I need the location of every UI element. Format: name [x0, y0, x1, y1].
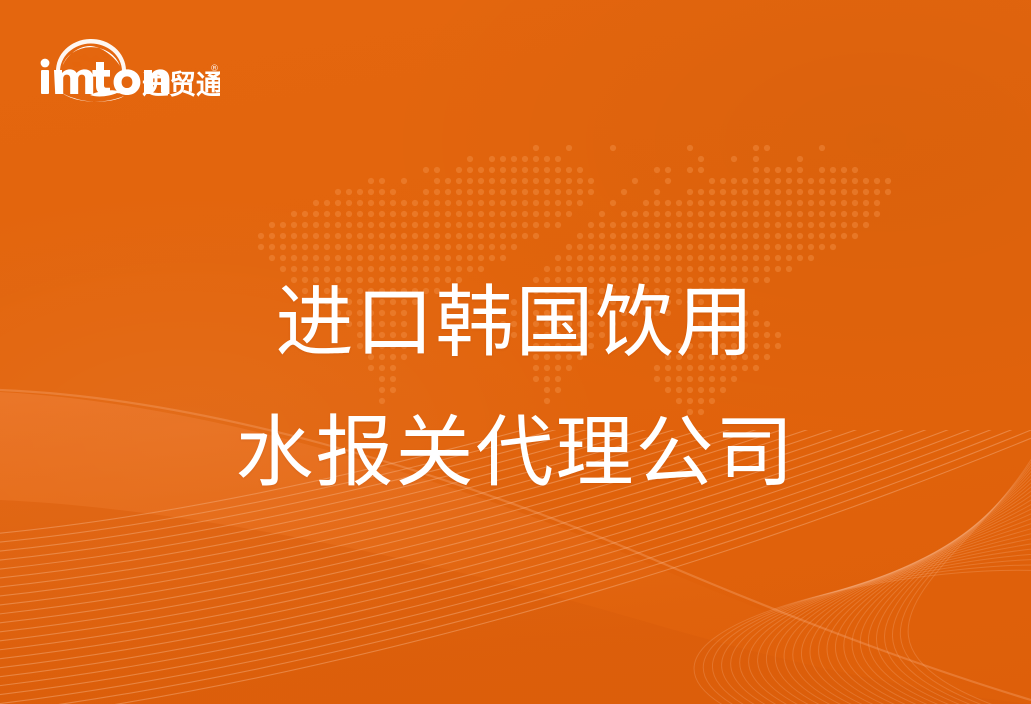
logo-trademark-symbol: ®: [210, 64, 219, 74]
brand-logo[interactable]: 进贸通 ®: [38, 26, 220, 104]
logo-chinese-text: 进贸通: [142, 70, 220, 101]
promo-banner: 进贸通 ® 进口韩国饮用 水报关代理公司: [0, 0, 1031, 704]
globe-dotted-icon: [56, 39, 126, 72]
headline-line-1: 进口韩国饮用: [0, 258, 1031, 388]
headline: 进口韩国饮用 水报关代理公司: [0, 258, 1031, 518]
headline-line-2: 水报关代理公司: [0, 388, 1031, 518]
